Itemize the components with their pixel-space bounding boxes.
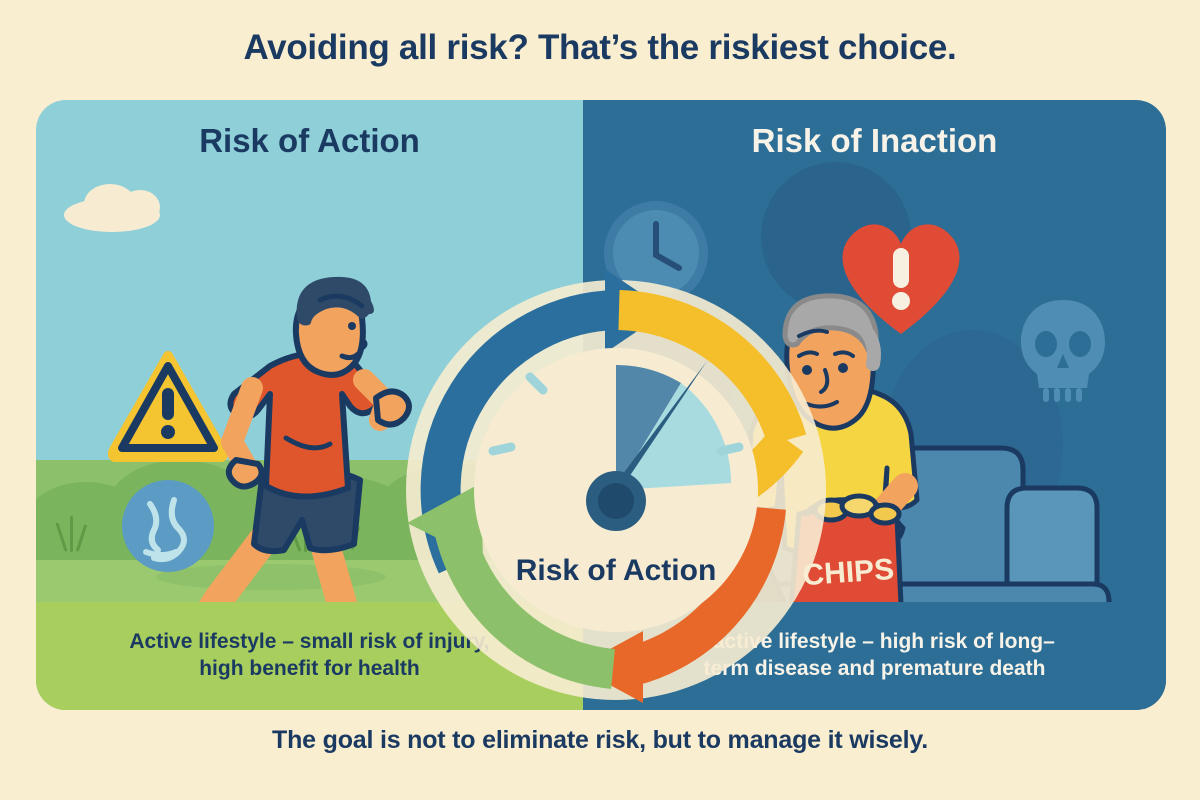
comparison-panel: Active lifestyle – small risk of injury,… [36, 100, 1166, 710]
page-tagline: The goal is not to eliminate risk, but t… [0, 726, 1200, 755]
header-risk-of-action: Risk of Action [36, 122, 583, 160]
infographic-root: Avoiding all risk? That’s the riskiest c… [0, 0, 1200, 800]
page-title: Avoiding all risk? That’s the riskiest c… [0, 28, 1200, 68]
risk-gauge: Risk of Action [391, 265, 841, 710]
header-risk-of-inaction: Risk of Inaction [583, 122, 1166, 160]
gauge-label: Risk of Action [516, 554, 717, 587]
